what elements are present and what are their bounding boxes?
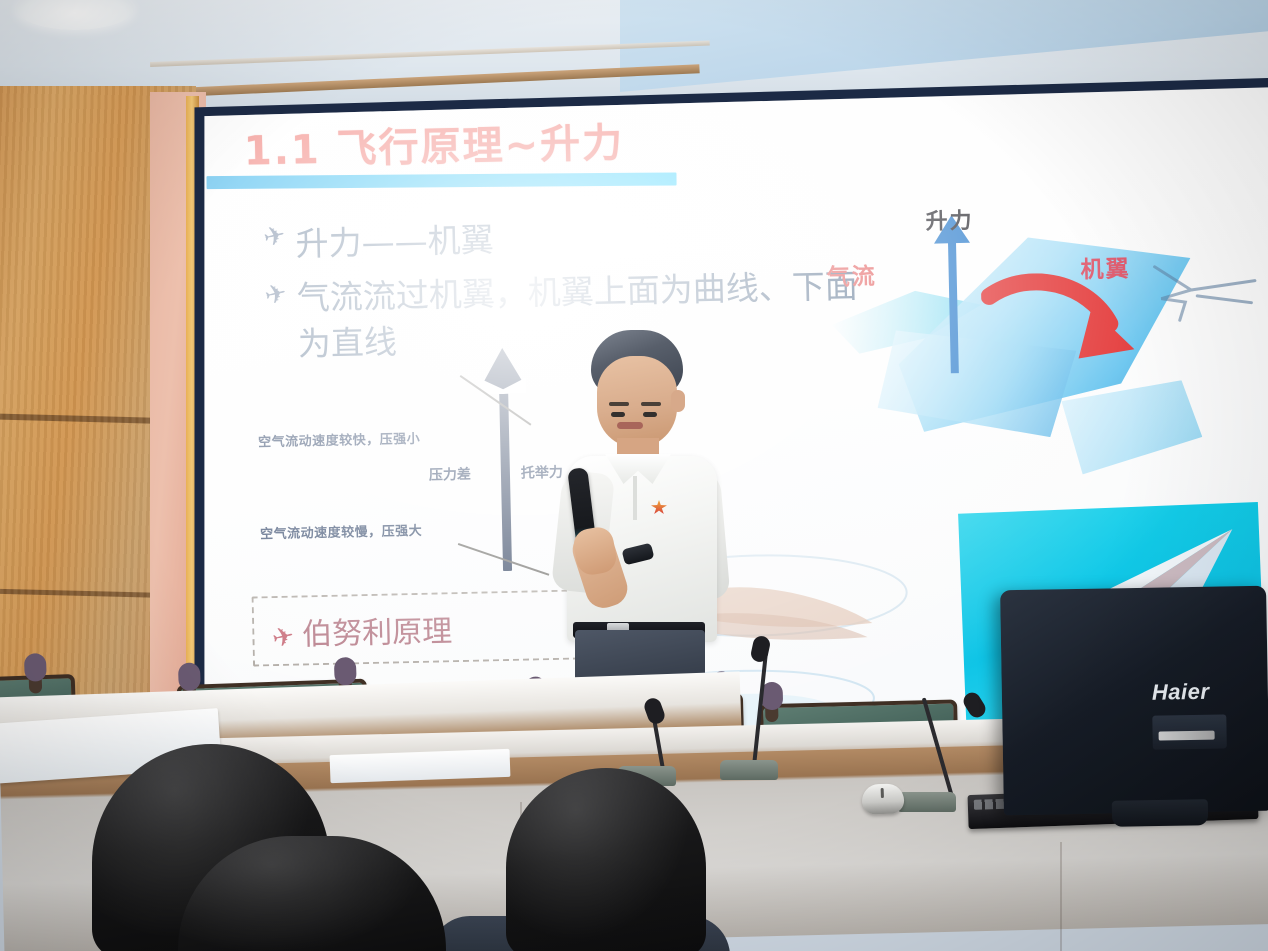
bernoulli-label: ✈ 伯努利原理 xyxy=(272,606,453,654)
presenter-brow xyxy=(641,402,661,406)
presenter-eye xyxy=(611,412,625,417)
microphone-base xyxy=(898,792,956,812)
monitor-brand-label: Haier xyxy=(1152,679,1210,706)
lecture-room-photo: 1.1 飞行原理~升力 ✈ 升力——机翼 ✈ 气流流过机翼，机翼上面为曲线、下面… xyxy=(0,0,1268,951)
monitor-spec-sticker xyxy=(1152,714,1227,749)
microphone-base xyxy=(720,760,778,780)
slide-bullet-1: ✈ 升力——机翼 xyxy=(263,213,494,266)
desk-panel-seam xyxy=(1060,842,1062,951)
label-wing: 机翼 xyxy=(1080,249,1131,284)
mouse[interactable] xyxy=(861,783,904,814)
gooseneck-microphone[interactable] xyxy=(640,700,680,774)
airflow-curved-arrow-icon xyxy=(981,271,1143,384)
label-lift: 升力 xyxy=(925,203,974,236)
presenter xyxy=(545,330,745,710)
airplane-bullet-icon: ✈ xyxy=(262,280,289,310)
label-slow-flow: 空气流动速度较慢，压强大 xyxy=(260,520,422,543)
slide-title: 1.1 飞行原理~升力 xyxy=(243,110,624,176)
chair-post-cap xyxy=(178,662,201,691)
bernoulli-highlight-box: ✈ 伯努利原理 xyxy=(252,589,579,666)
wood-panel-seam xyxy=(0,589,172,598)
monitor: Haier xyxy=(1000,586,1268,816)
presenter-brow xyxy=(609,402,629,406)
presenter-eye xyxy=(643,412,657,417)
wing-tail-surface xyxy=(1061,380,1203,475)
airplane-bullet-icon: ✈ xyxy=(261,222,288,252)
presenter-shirt-placket xyxy=(633,476,637,520)
presenter-face xyxy=(597,356,677,448)
monitor-stand xyxy=(1112,799,1208,827)
lift-arrow-shaft xyxy=(499,366,512,571)
microphone-stem xyxy=(922,697,955,798)
microphone-stem xyxy=(752,650,768,768)
label-pressure-difference: 压力差 xyxy=(429,464,471,485)
chair-post-cap xyxy=(24,653,47,682)
label-fast-flow: 空气流动速度较快，压强小 xyxy=(258,428,420,451)
presenter-ear xyxy=(671,390,685,412)
title-accent-bar xyxy=(206,172,676,189)
airplane-bullet-icon: ✈ xyxy=(270,623,297,653)
label-airflow: 气流 xyxy=(826,257,877,292)
gooseneck-microphone[interactable] xyxy=(920,688,960,800)
gooseneck-microphone[interactable] xyxy=(742,640,782,768)
lift-vector-arrow xyxy=(948,233,959,373)
chair-post-cap xyxy=(334,657,357,686)
bernoulli-text: 伯努利原理 xyxy=(302,606,453,653)
lift-pressure-diagram: 空气流动速度较快，压强小 空气流动速度较慢，压强大 压力差 托举力 xyxy=(257,364,592,586)
microphone-head xyxy=(642,696,667,726)
slide-bullet-1-text: 升力——机翼 xyxy=(295,213,494,265)
airplane-line-drawing-icon xyxy=(1144,244,1266,337)
presenter-mouth xyxy=(617,422,643,429)
lift-arrow-head-icon xyxy=(479,348,526,389)
